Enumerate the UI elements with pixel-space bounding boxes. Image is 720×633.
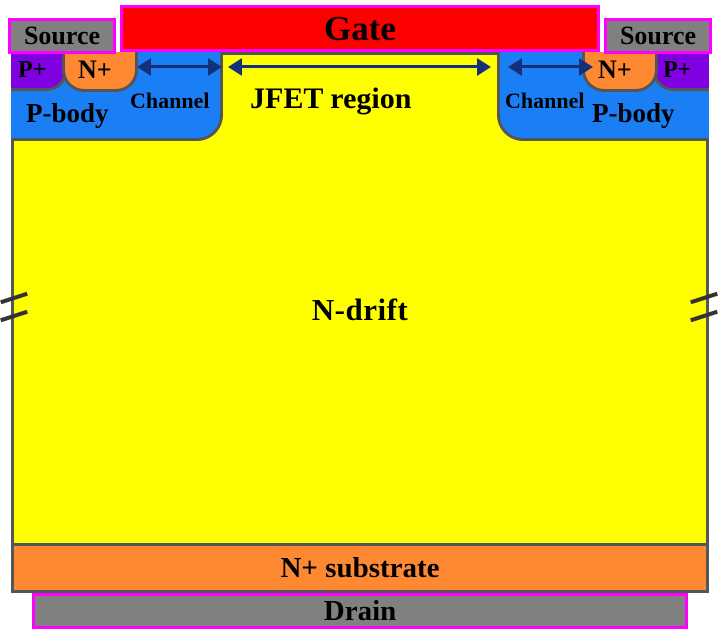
channel-label-right: Channel xyxy=(505,88,584,114)
p-plus-label-right: P+ xyxy=(663,57,691,84)
channel-label-left: Channel xyxy=(130,88,209,114)
n-drift-label: N-drift xyxy=(0,292,720,328)
source-electrode-left: Source xyxy=(8,18,116,54)
break-mark-left xyxy=(0,288,30,332)
p-body-label-left: P-body xyxy=(26,98,109,129)
gate-label: Gate xyxy=(324,11,396,46)
gate-electrode: Gate xyxy=(120,5,600,52)
mosfet-cross-section-diagram: N-drift P-body P-body Channel Channel JF… xyxy=(0,0,720,633)
source-electrode-right: Source xyxy=(604,18,712,54)
break-mark-right xyxy=(690,288,720,332)
n-plus-substrate-region: N+ substrate xyxy=(11,546,709,593)
drain-electrode: Drain xyxy=(32,593,688,629)
jfet-region-label: JFET region xyxy=(250,82,411,116)
p-body-label-right: P-body xyxy=(592,98,675,129)
source-label-right: Source xyxy=(620,23,696,49)
n-plus-label-left: N+ xyxy=(78,55,112,85)
n-plus-substrate-label: N+ substrate xyxy=(280,552,439,585)
drain-label: Drain xyxy=(324,595,397,628)
source-label-left: Source xyxy=(24,23,100,49)
n-plus-label-right: N+ xyxy=(598,55,632,85)
p-plus-label-left: P+ xyxy=(18,57,46,84)
